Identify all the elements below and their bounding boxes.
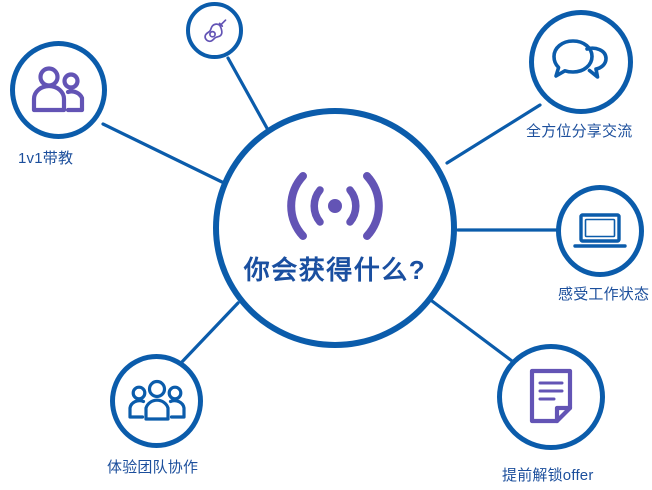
node-worklife[interactable] (556, 185, 644, 277)
speech-bubbles-icon (551, 37, 611, 87)
radial-diagram: 你会获得什么? 1v1带教 (0, 0, 652, 490)
node-mentor[interactable] (10, 41, 107, 139)
node-share[interactable] (529, 10, 633, 114)
node-teamwork-label: 体验团队协作 (107, 456, 198, 477)
node-offer[interactable] (497, 344, 605, 450)
center-title: 你会获得什么? (244, 250, 426, 287)
laptop-icon (573, 210, 627, 252)
node-teamwork[interactable] (110, 354, 203, 448)
edge-center-teamwork (180, 303, 238, 364)
center-hub: 你会获得什么? (213, 108, 457, 348)
node-offer-label: 提前解锁offer (502, 464, 594, 485)
node-mentor-label: 1v1带教 (18, 147, 73, 168)
node-music[interactable] (186, 2, 243, 59)
edge-center-mentor (103, 124, 222, 182)
guitar-icon (201, 17, 229, 45)
edge-center-offer (432, 301, 512, 361)
edge-center-music (228, 58, 268, 130)
two-people-icon (30, 66, 88, 114)
group-people-icon (127, 379, 187, 423)
document-icon (527, 368, 575, 426)
node-worklife-label: 感受工作状态 (558, 283, 649, 304)
broadcast-signal-icon (283, 170, 387, 242)
node-share-label: 全方位分享交流 (526, 120, 632, 141)
